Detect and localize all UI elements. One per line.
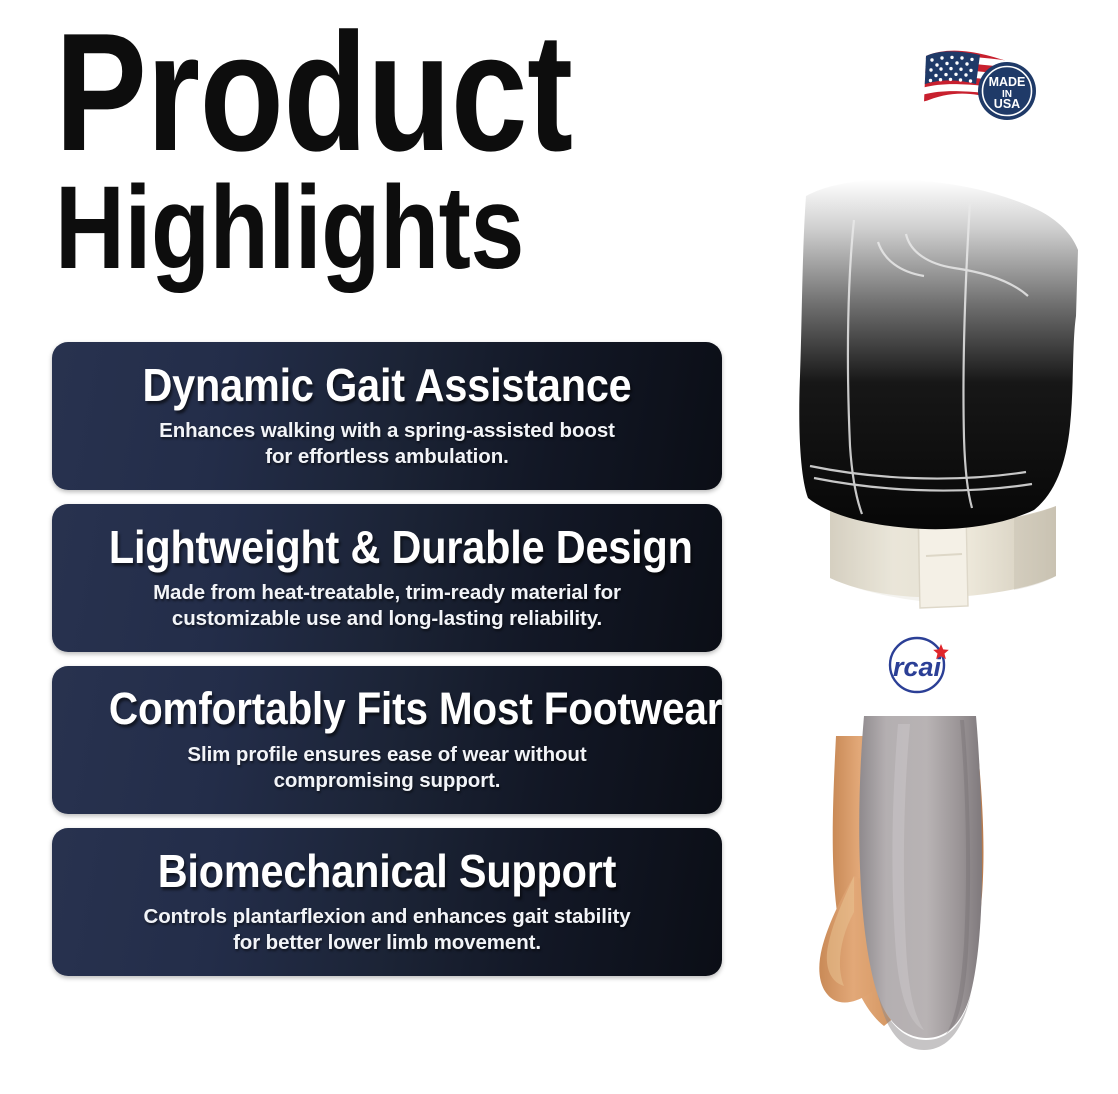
card-body: Enhances walking with a spring-assisted …	[78, 418, 696, 470]
made-in-usa-seal: MADE IN USA	[978, 62, 1036, 120]
page-title-line-2: Highlights	[55, 168, 596, 288]
card-heading: Biomechanical Support	[109, 844, 665, 898]
card-body-line: for better lower limb movement.	[78, 930, 696, 956]
highlight-card[interactable]: Comfortably Fits Most Footwear Slim prof…	[52, 666, 722, 814]
highlight-card[interactable]: Biomechanical Support Controls plantarfl…	[52, 828, 722, 976]
card-body-line: Made from heat-treatable, trim-ready mat…	[78, 580, 696, 606]
rcai-logo-text: rcai	[893, 652, 942, 682]
card-body: Controls plantarflexion and enhances gai…	[78, 904, 696, 956]
highlight-card[interactable]: Dynamic Gait Assistance Enhances walking…	[52, 342, 722, 490]
page-title-line-1: Product	[55, 16, 596, 168]
card-heading: Dynamic Gait Assistance	[109, 358, 665, 412]
seal-line-1: MADE	[989, 75, 1026, 89]
card-body-line: compromising support.	[78, 768, 696, 794]
card-heading: Comfortably Fits Most Footwear	[109, 682, 665, 736]
rcai-logo-mark: rcai	[890, 638, 949, 692]
highlight-card-list: Dynamic Gait Assistance Enhances walking…	[52, 342, 722, 976]
card-body-line: customizable use and long-lasting reliab…	[78, 606, 696, 632]
card-body: Slim profile ensures ease of wear withou…	[78, 742, 696, 794]
page-title: Product Highlights	[55, 16, 715, 288]
card-heading: Lightweight & Durable Design	[109, 520, 665, 574]
fabric-sleeve	[799, 180, 1078, 530]
card-body-line: for effortless ambulation.	[78, 444, 696, 470]
card-body-line: Controls plantarflexion and enhances gai…	[78, 904, 696, 930]
highlight-card[interactable]: Lightweight & Durable Design Made from h…	[52, 504, 722, 652]
card-body: Made from heat-treatable, trim-ready mat…	[78, 580, 696, 632]
card-body-line: Slim profile ensures ease of wear withou…	[78, 742, 696, 768]
made-in-usa-badge: MADE IN USA	[918, 44, 1040, 128]
card-body-line: Enhances walking with a spring-assisted …	[78, 418, 696, 444]
ankle-foot-orthosis-photo: rcai	[758, 176, 1118, 1094]
seal-line-3: USA	[994, 97, 1020, 111]
